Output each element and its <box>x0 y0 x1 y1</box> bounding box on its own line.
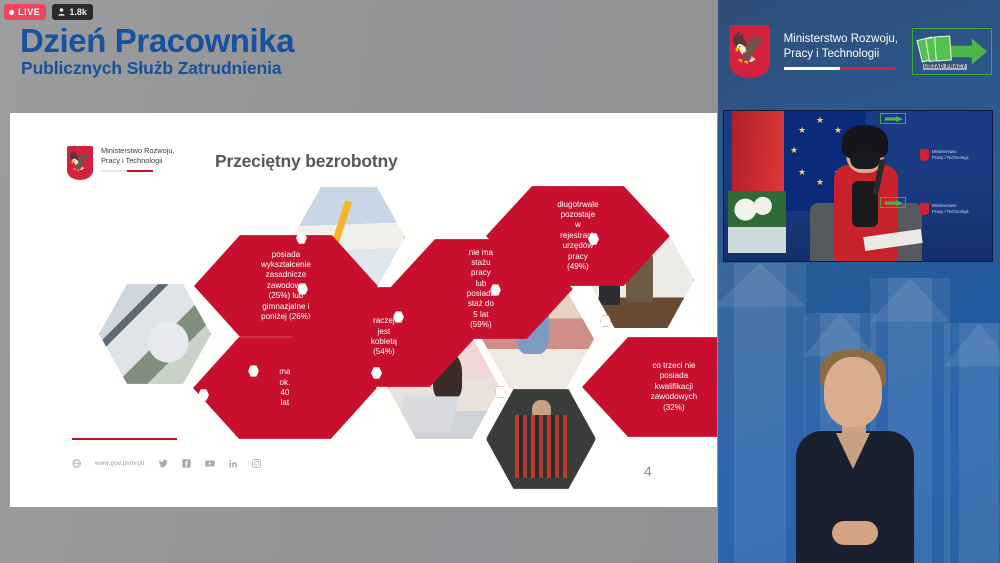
broadcast-screen: LIVE 1.8k Dzień Pracownika Publicznych S… <box>0 0 1000 563</box>
backdrop-watermark: Ministerstwo Pracy i Technologii <box>932 203 969 214</box>
youtube-icon[interactable] <box>205 459 215 468</box>
slide-footer-social: www.gov.pl/mrpit <box>72 459 261 468</box>
flower-bouquet <box>728 191 786 253</box>
backdrop-crest-icon <box>920 149 929 161</box>
decorative-arrow-icon <box>944 323 1000 563</box>
slide-page-number: 4 <box>644 463 652 479</box>
event-header: Dzień Pracownika Publicznych Służb Zatru… <box>0 0 720 108</box>
globe-icon <box>72 459 81 468</box>
twitter-icon[interactable] <box>159 459 168 468</box>
event-title: Dzień Pracownika <box>20 22 294 60</box>
backdrop-watermark: Ministerstwo Pracy i Technologii <box>932 149 969 160</box>
ministry-name: Ministerstwo Rozwoju, Pracy i Technologi… <box>784 32 898 62</box>
slide-ministry-line2: Pracy i Technologii <box>101 156 175 166</box>
live-badge: LIVE <box>4 4 46 20</box>
slide-ministry-branding: 🦅 Ministerstwo Rozwoju, Pracy i Technolo… <box>67 146 175 180</box>
ministry-name-line2: Pracy i Technologii <box>784 47 898 62</box>
slide-footer-url[interactable]: www.gov.pl/mrpit <box>95 460 145 467</box>
hex-notch <box>598 419 609 431</box>
slide-ministry-line1: Ministerstwo Rozwoju, <box>101 146 175 156</box>
hex-photo-man-on-phone <box>99 282 211 386</box>
backdrop-urzad-pracy-logo <box>880 197 906 208</box>
stream-status-row: LIVE 1.8k <box>4 4 93 20</box>
slide-title: Przeciętny bezrobotny <box>215 151 398 172</box>
instagram-icon[interactable] <box>252 459 261 468</box>
signing-hands <box>832 521 878 545</box>
polish-eagle-crest-icon: 🦅 <box>729 25 770 78</box>
slide-ministry-name: Ministerstwo Rozwoju, Pracy i Technologi… <box>101 146 175 166</box>
speaker-figure <box>820 129 912 261</box>
urzad-pracy-arrow-logo: URZĄD PRACY <box>912 28 992 75</box>
flag-rule <box>101 170 153 173</box>
slide-footer-divider <box>72 438 177 440</box>
live-label: LIVE <box>18 7 40 17</box>
hex-photo-man-shrugging <box>486 387 596 491</box>
person-icon <box>58 8 65 16</box>
face-mask-icon <box>850 151 880 169</box>
backdrop-urzad-pracy-logo <box>880 113 906 124</box>
header-branding: 🦅 Ministerstwo Rozwoju, Pracy i Technolo… <box>729 22 992 80</box>
presentation-slide: 🦅 Ministerstwo Rozwoju, Pracy i Technolo… <box>10 113 717 507</box>
ministry-name-line1: Ministerstwo Rozwoju, <box>784 32 898 47</box>
sign-language-interpreter <box>780 355 930 563</box>
polish-eagle-crest-icon: 🦅 <box>67 146 93 180</box>
urzad-pracy-label: URZĄD PRACY <box>923 64 967 70</box>
viewer-count-label: 1.8k <box>69 7 87 17</box>
flag-rule <box>784 67 896 70</box>
backdrop-crest-icon <box>920 203 929 215</box>
event-subtitle: Publicznych Służb Zatrudnienia <box>21 58 282 79</box>
record-dot-icon <box>9 10 14 15</box>
speaker-video-feed[interactable]: ★ ★ ★ ★ ★ ★ ★ ★ Ministerstwo Pracy i Tec… <box>723 110 993 262</box>
viewer-count-badge: 1.8k <box>52 4 93 20</box>
linkedin-icon[interactable] <box>229 459 238 468</box>
facebook-icon[interactable] <box>182 459 191 468</box>
